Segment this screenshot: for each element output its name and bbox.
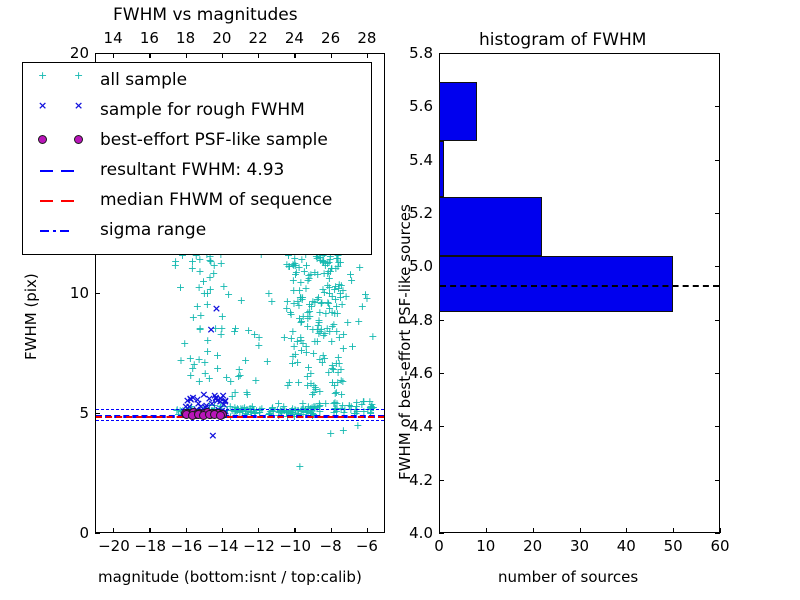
ytick-label-left: 5	[55, 406, 89, 421]
xtick-top	[186, 53, 187, 58]
filled-circle-icon	[38, 135, 47, 144]
xtick-bottom	[222, 528, 223, 533]
xtick-right-panel	[673, 528, 674, 533]
ytick-right-panel-mirror	[715, 106, 720, 107]
ytick-right-panel-mirror	[715, 480, 720, 481]
dashed-line-icon	[61, 170, 74, 172]
ytick-label-right-panel: 4.6	[391, 366, 433, 381]
xtick-bottom	[186, 528, 187, 533]
xtick-right-panel	[486, 528, 487, 533]
ytick-label-right-panel: 4.4	[391, 419, 433, 434]
xtick-right-panel	[580, 528, 581, 533]
xtick-bottom	[294, 528, 295, 533]
xtick-top	[113, 53, 114, 58]
ytick-label-right-panel: 4.2	[391, 473, 433, 488]
xtick-top	[331, 53, 332, 58]
dashed-line-icon	[40, 170, 53, 172]
xtick-label-top: 22	[243, 31, 273, 46]
xtick-label-right-panel: 40	[610, 539, 642, 554]
histogram-bar	[439, 256, 673, 312]
legend-label: resultant FWHM: 4.93	[100, 160, 284, 180]
scatter-point-rough-fwhm	[207, 329, 216, 338]
histogram-bar	[439, 197, 542, 256]
left-panel-ylabel: FWHM (pix)	[22, 273, 40, 360]
xtick-label-bottom: −10	[279, 539, 309, 554]
ytick-label-right-panel: 5.4	[391, 153, 433, 168]
xtick-label-bottom: −8	[316, 539, 346, 554]
legend-label: best-effort PSF-like sample	[100, 130, 328, 150]
ytick-right-panel-mirror	[715, 266, 720, 267]
ytick-label-right-panel: 5.2	[391, 206, 433, 221]
xtick-label-top: 18	[171, 31, 201, 46]
ytick-left	[95, 533, 100, 534]
ytick-right-panel	[439, 480, 444, 481]
ytick-label-right-panel: 5.0	[391, 259, 433, 274]
ytick-right-panel-mirror	[715, 533, 720, 534]
xtick-label-bottom: −16	[171, 539, 201, 554]
ytick-label-left: 10	[55, 286, 89, 301]
xtick-bottom	[367, 528, 368, 533]
xtick-top	[149, 53, 150, 58]
xtick-label-right-panel: 30	[564, 539, 596, 554]
ytick-right-panel-mirror	[715, 160, 720, 161]
xtick-top	[258, 53, 259, 58]
ytick-right-panel	[439, 373, 444, 374]
xtick-label-top: 26	[316, 31, 346, 46]
xtick-right-panel	[720, 528, 721, 533]
dashed-line-icon	[40, 200, 53, 202]
xtick-top	[222, 53, 223, 58]
xtick-label-right-panel: 60	[704, 539, 736, 554]
ytick-right-panel-mirror	[715, 426, 720, 427]
xtick-label-top: 24	[279, 31, 309, 46]
figure-canvas: FWHM vs magnitudes FWHM (pix) magnitude …	[0, 0, 800, 600]
filled-circle-icon	[74, 135, 83, 144]
ytick-label-left: 20	[55, 46, 89, 61]
xtick-bottom	[331, 528, 332, 533]
xtick-right-panel	[533, 528, 534, 533]
xtick-label-top: 20	[207, 31, 237, 46]
ytick-right-panel	[439, 533, 444, 534]
dashdot-line-icon	[53, 230, 56, 232]
xtick-bottom	[149, 528, 150, 533]
ytick-label-right-panel: 5.6	[391, 99, 433, 114]
legend-label: sample for rough FWHM	[100, 100, 305, 120]
left-panel-xlabel: magnitude (bottom:isnt / top:calib)	[98, 568, 362, 586]
scatter-point-rough-fwhm	[208, 435, 217, 444]
ytick-right-panel-mirror	[715, 53, 720, 54]
ytick-right-panel-mirror	[715, 373, 720, 374]
cross-icon	[38, 105, 47, 114]
xtick-label-right-panel: 10	[470, 539, 502, 554]
ytick-left	[95, 53, 100, 54]
xtick-label-top: 16	[134, 31, 164, 46]
ytick-right-panel	[439, 320, 444, 321]
ytick-left	[95, 293, 100, 294]
xtick-top	[294, 53, 295, 58]
sigma-range-upper-line	[96, 409, 384, 410]
ytick-right-panel	[439, 53, 444, 54]
xtick-top	[367, 53, 368, 58]
xtick-label-top: 14	[98, 31, 128, 46]
xtick-label-bottom: −18	[134, 539, 164, 554]
legend-label: all sample	[100, 70, 187, 90]
scatter-point-rough-fwhm	[212, 308, 221, 317]
cross-icon	[74, 105, 83, 114]
scatter-point-rough-fwhm	[212, 398, 221, 407]
right-panel-title: histogram of FWHM	[479, 30, 646, 50]
dashdot-line-icon	[40, 230, 49, 232]
xtick-label-bottom: −6	[352, 539, 382, 554]
dashdot-line-icon	[60, 230, 69, 232]
ytick-label-right-panel: 5.8	[391, 46, 433, 61]
ytick-label-right-panel: 4.0	[391, 526, 433, 541]
xtick-right-panel	[626, 528, 627, 533]
ytick-label-left: 0	[55, 526, 89, 541]
legend-label: median FHWM of sequence	[100, 190, 332, 210]
xtick-label-bottom: −14	[207, 539, 237, 554]
xtick-bottom	[113, 528, 114, 533]
sigma-range-lower-line	[96, 420, 384, 421]
xtick-label-right-panel: 50	[657, 539, 689, 554]
left-panel-title: FWHM vs magnitudes	[113, 5, 298, 25]
resultant-fwhm-line-histogram	[440, 285, 719, 287]
right-panel-ylabel: FWHM of best-effort PSF-like sources	[396, 204, 414, 480]
dashed-line-icon	[61, 200, 74, 202]
right-panel-xlabel: number of sources	[498, 568, 638, 586]
median-fwhm-line	[96, 416, 384, 418]
ytick-right-panel-mirror	[715, 320, 720, 321]
ytick-right-panel	[439, 426, 444, 427]
xtick-label-top: 28	[352, 31, 382, 46]
ytick-label-right-panel: 4.8	[391, 313, 433, 328]
histogram-bar	[439, 141, 444, 197]
legend-label: sigma range	[100, 220, 206, 240]
xtick-label-right-panel: 20	[517, 539, 549, 554]
scatter-point-psf-like	[216, 411, 225, 420]
ytick-right-panel-mirror	[715, 213, 720, 214]
xtick-bottom	[258, 528, 259, 533]
histogram-bar	[439, 82, 477, 141]
xtick-label-bottom: −20	[98, 539, 128, 554]
xtick-label-bottom: −12	[243, 539, 273, 554]
